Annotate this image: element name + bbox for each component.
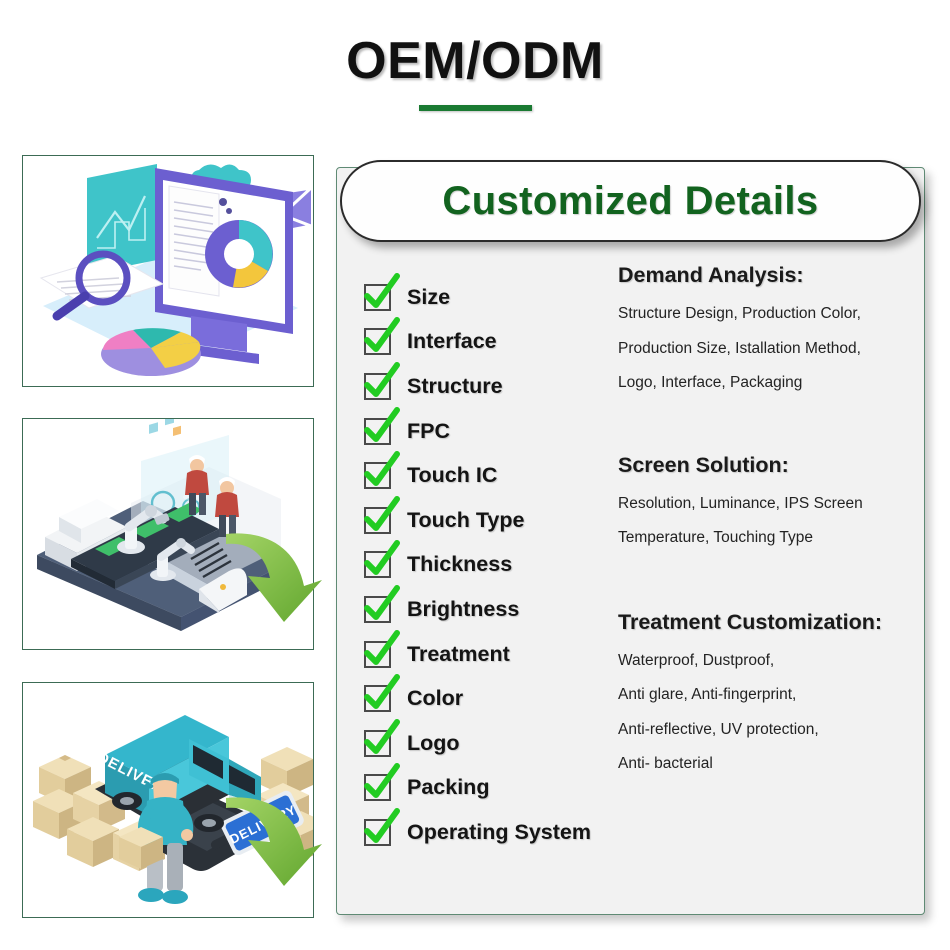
section-line: Production Size, Istallation Method, [618, 341, 918, 357]
section-line: Structure Design, Production Color, [618, 306, 918, 322]
checklist-item-label: Operating System [407, 820, 591, 845]
checkbox-checked-icon[interactable] [364, 284, 391, 311]
customized-details-title: Customized Details [442, 179, 818, 224]
checklist-item-label: FPC [407, 419, 450, 444]
checkbox-checked-icon[interactable] [364, 730, 391, 757]
checklist-item-label: Brightness [407, 597, 519, 622]
checkbox-checked-icon[interactable] [364, 819, 391, 846]
checklist-item-label: Touch Type [407, 508, 524, 533]
checkbox-checked-icon[interactable] [364, 418, 391, 445]
checklist-item-label: Interface [407, 329, 497, 354]
flow-arrow-down-1 [218, 530, 348, 626]
section-screen-solution: Screen Solution: Resolution, Luminance, … [618, 453, 918, 546]
checklist-item[interactable]: Thickness [364, 543, 604, 588]
checklist-item[interactable]: Brightness [364, 587, 604, 632]
checklist-item[interactable]: Structure [364, 364, 604, 409]
checkbox-checked-icon[interactable] [364, 596, 391, 623]
checklist-item[interactable]: Touch Type [364, 498, 604, 543]
section-line: Waterproof, Dustproof, [618, 653, 918, 669]
checkbox-checked-icon[interactable] [364, 551, 391, 578]
checklist-item[interactable]: Packing [364, 766, 604, 811]
checklist-item[interactable]: Size [364, 275, 604, 320]
section-title: Demand Analysis: [618, 263, 918, 288]
checklist-item-label: Treatment [407, 642, 510, 667]
page-title-block: OEM/ODM [0, 34, 950, 111]
section-line: Anti-reflective, UV protection, [618, 722, 918, 738]
section-line: Anti glare, Anti-fingerprint, [618, 687, 918, 703]
checklist-item-label: Packing [407, 775, 489, 800]
section-title: Treatment Customization: [618, 610, 918, 635]
customized-details-badge: Customized Details [340, 160, 921, 242]
checklist-item-label: Touch IC [407, 463, 497, 488]
checkbox-checked-icon[interactable] [364, 774, 391, 801]
customization-checklist: Size Interface Structure FPC Touch IC [364, 275, 604, 855]
section-title: Screen Solution: [618, 453, 918, 478]
flow-arrow-down-2 [218, 794, 348, 890]
checklist-item-label: Logo [407, 731, 460, 756]
checklist-item-label: Size [407, 285, 450, 310]
checklist-item[interactable]: Logo [364, 721, 604, 766]
section-demand-analysis: Demand Analysis: Structure Design, Produ… [618, 263, 918, 391]
checklist-item[interactable]: Color [364, 676, 604, 721]
arrow-down-icon [218, 794, 348, 890]
data-analysis-artwork [23, 156, 314, 387]
section-line: Resolution, Luminance, IPS Screen [618, 496, 918, 512]
checkbox-checked-icon[interactable] [364, 507, 391, 534]
data-analysis-illustration [22, 155, 314, 387]
section-line: Anti- bacterial [618, 756, 918, 772]
checklist-item[interactable]: Operating System [364, 810, 604, 855]
section-line: Logo, Interface, Packaging [618, 375, 918, 391]
checkbox-checked-icon[interactable] [364, 641, 391, 668]
infographic-page: OEM/ODM [0, 0, 950, 950]
checkbox-checked-icon[interactable] [364, 462, 391, 489]
checklist-item-label: Color [407, 686, 463, 711]
section-treatment-customization: Treatment Customization: Waterproof, Dus… [618, 610, 918, 772]
illustration-column: DELIVERY DELIVERY [22, 155, 314, 920]
checkbox-checked-icon[interactable] [364, 685, 391, 712]
checklist-item-label: Thickness [407, 552, 512, 577]
checklist-item-label: Structure [407, 374, 503, 399]
checkbox-checked-icon[interactable] [364, 328, 391, 355]
checklist-item[interactable]: Touch IC [364, 453, 604, 498]
checklist-item[interactable]: FPC [364, 409, 604, 454]
arrow-down-icon [218, 530, 348, 626]
title-underline-rule [419, 105, 532, 111]
checklist-item[interactable]: Interface [364, 320, 604, 365]
section-line: Temperature, Touching Type [618, 530, 918, 546]
detail-sections: Demand Analysis: Structure Design, Produ… [618, 263, 918, 802]
checklist-item[interactable]: Treatment [364, 632, 604, 677]
page-title: OEM/ODM [0, 34, 950, 89]
checkbox-checked-icon[interactable] [364, 373, 391, 400]
